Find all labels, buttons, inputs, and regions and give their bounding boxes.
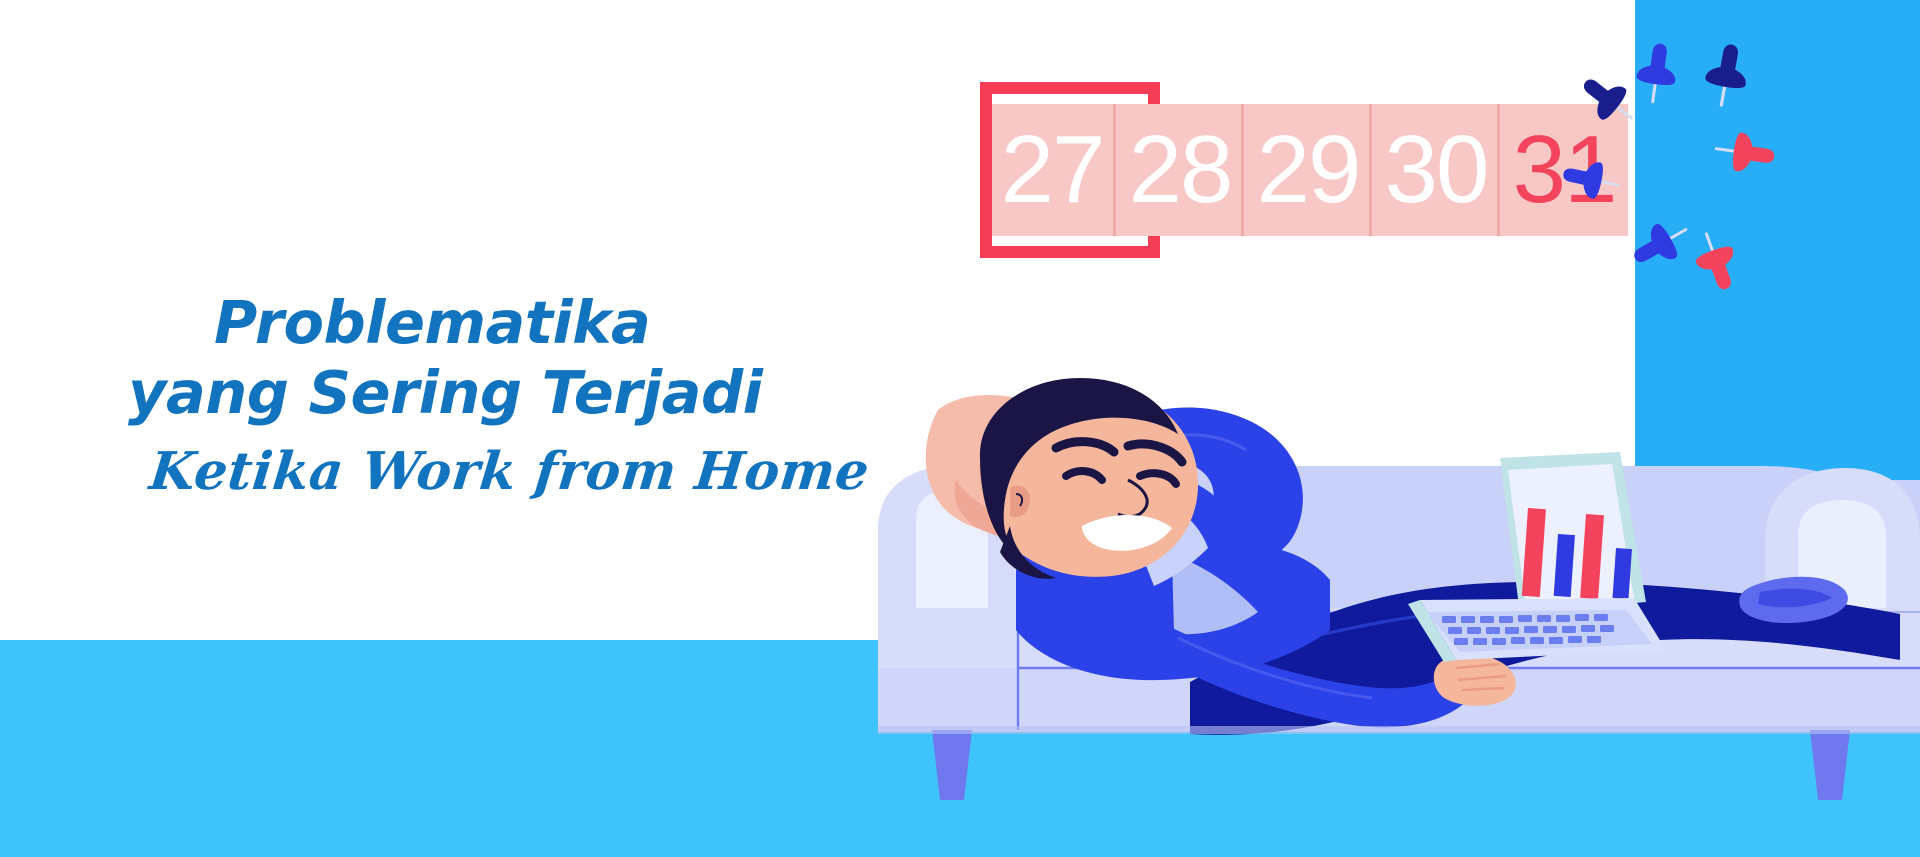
headline-script-line: Ketika Work from Home [147,441,951,502]
head [979,385,1198,576]
shirt-torso [1016,471,1330,680]
shoe [1739,577,1848,623]
trousers-upper [1190,582,1870,720]
calendar-day-28[interactable]: 28 [1116,104,1244,236]
laptop-keyboard-area [1426,610,1652,652]
sofa-seat-lower [878,668,1920,732]
headline-line-2: yang Sering Terjadi [128,358,948,428]
laptop-base [1420,598,1666,660]
sofa-left-arm [878,466,1026,710]
pushpin-icon [1713,122,1782,184]
hand [1434,655,1516,706]
eye-right [1140,473,1176,484]
shirt-collar [1136,502,1208,586]
chart-bar-2 [1554,534,1575,597]
sofa-right-arm [1765,468,1920,730]
ear-detail [1016,494,1022,506]
hair [980,378,1178,558]
shoe-shade [1758,589,1832,608]
sofa-backrest [920,466,1890,630]
laptop-screen [1508,464,1634,608]
laptop-base-edge [1408,600,1456,662]
sofa-right-arm-inner [1798,500,1886,660]
laptop-chart-bars [1522,508,1632,599]
trousers-crease [1220,604,1550,660]
illustration-man-on-sofa [860,330,1920,857]
eyebrow-left [1056,442,1114,452]
shirt-placket [1172,554,1258,634]
chart-bar-4 [1613,548,1632,599]
pushpin-icon [1681,225,1753,302]
sofa-leg-right [1810,730,1850,800]
calendar-day-27[interactable]: 27 [988,104,1116,236]
page-title: Problematika yang Sering Terjadi [128,288,948,427]
beard [1000,526,1056,579]
background-bottom-blue-band [0,640,1920,857]
calendar-day-29[interactable]: 29 [1244,104,1372,236]
mouth [1082,515,1172,551]
calendar-day-number: 30 [1385,122,1488,218]
pushpin-icon [1626,37,1688,106]
nose [1118,480,1147,517]
arm-raised-crease [1122,435,1246,456]
laptop-lid-edge [1500,452,1646,614]
arm-lower [1150,622,1466,727]
ear [1010,486,1030,517]
sofa-seat-upper [878,608,1920,730]
chart-bar-3 [1580,514,1604,599]
calendar-day-number: 29 [1257,122,1360,218]
sofa-seat-shadow [878,726,1920,734]
trousers-lower [1190,591,1900,735]
calendar-day-number: 27 [1001,122,1104,218]
calendar-outline-gap-bottom [992,238,1148,246]
hand-fingers [1456,664,1506,690]
calendar-day-number: 28 [1129,122,1232,218]
eyebrow-right [1128,444,1182,462]
pillow [926,395,1091,533]
pushpin-icon [1693,36,1760,110]
calendar-outline-gap-top [992,94,1148,102]
sofa-left-arm-inner [916,490,988,630]
eye-left [1066,471,1102,480]
laptop-keys [1442,614,1614,645]
sofa-back-plane [915,480,1920,660]
arm-lower-crease [1178,638,1372,698]
banner-canvas: Problematika yang Sering Terjadi Ketika … [0,0,1920,857]
calendar-strip: 2728293031 [988,104,1628,236]
headline-text-block: Problematika yang Sering Terjadi Ketika … [128,288,948,502]
pillow-shadow [954,480,1072,539]
chart-bar-1 [1522,508,1546,597]
headline-line-1: Problematika [128,288,948,358]
sofa-leg-left [932,730,972,800]
calendar-day-30[interactable]: 30 [1372,104,1500,236]
laptop [1408,452,1666,662]
arm-raised [1096,407,1303,562]
